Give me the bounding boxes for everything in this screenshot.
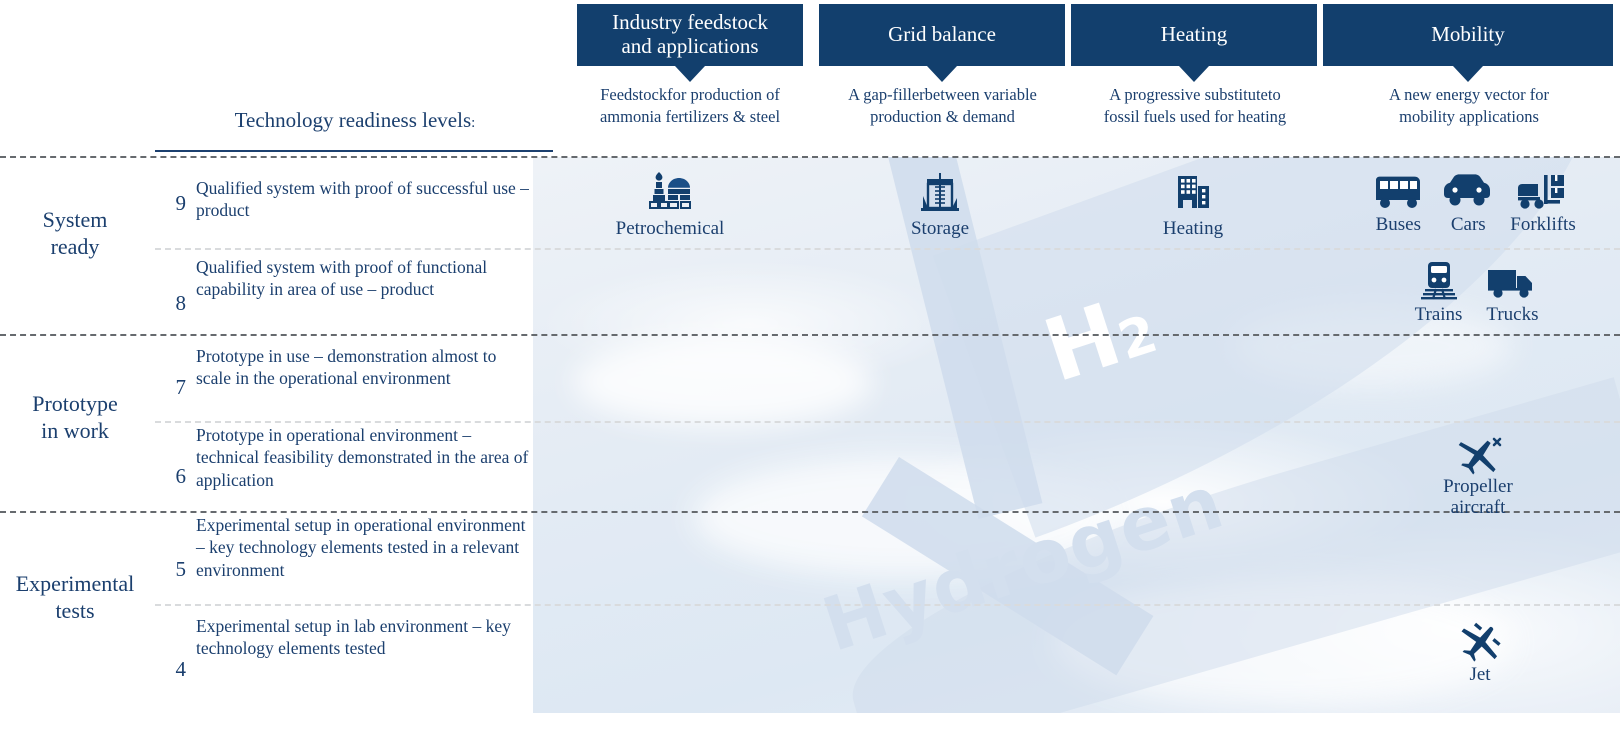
chevron-down-icon-heating <box>1179 66 1209 82</box>
divider-9-8 <box>155 248 1620 250</box>
group-label-prototype-in-work: Prototype in work <box>0 391 150 445</box>
group-label-system-ready: System ready <box>0 207 150 261</box>
divider-group-2-3 <box>0 511 1620 513</box>
level-number-8: 8 <box>160 291 186 316</box>
cell-label-trucks: Trucks <box>1484 305 1540 326</box>
column-subtitle-mobility: A new energy vector for mobility applica… <box>1330 84 1608 128</box>
column-header-heating[interactable]: Heating <box>1071 4 1317 66</box>
cell-label-heating: Heating <box>1098 219 1288 240</box>
bus-icon <box>1370 170 1426 214</box>
column-subtitle-heating: A progressive substituteto fossil fuels … <box>1066 84 1324 128</box>
level-text-5: Experimental setup in operational enviro… <box>196 514 531 581</box>
cell-item-forklifts[interactable]: Forklifts <box>1510 170 1575 236</box>
cell-label-cars: Cars <box>1440 215 1496 236</box>
truck-icon <box>1484 258 1540 304</box>
column-header-heating-line1: Heating <box>1161 23 1227 47</box>
cell-mobility-6[interactable]: Propeller aircraft <box>1378 436 1578 519</box>
level-number-9: 9 <box>160 191 186 216</box>
cell-item-trucks[interactable]: Trucks <box>1484 258 1540 326</box>
cell-label-trains: Trains <box>1415 305 1463 326</box>
cell-label-forklifts: Forklifts <box>1510 215 1575 236</box>
cell-label-buses: Buses <box>1370 215 1426 236</box>
chevron-down-icon-grid <box>927 66 957 82</box>
cell-label-petrochemical: Petrochemical <box>575 219 765 240</box>
divider-7-6 <box>155 421 1620 423</box>
column-header-mobility[interactable]: Mobility <box>1323 4 1613 66</box>
column-header-grid[interactable]: Grid balance <box>819 4 1065 66</box>
level-number-7: 7 <box>160 375 186 400</box>
train-icon <box>1416 258 1462 304</box>
divider-5-4 <box>155 604 1620 606</box>
storage-tank-icon <box>915 168 965 218</box>
column-header-industry[interactable]: Industry feedstock and applications <box>577 4 803 66</box>
level-number-4: 4 <box>160 657 186 682</box>
petrochemical-plant-icon <box>642 168 698 218</box>
column-subtitle-industry: Feedstockfor production of ammonia ferti… <box>560 84 820 128</box>
cell-item-buses[interactable]: Buses <box>1370 170 1426 236</box>
cell-label-propeller-aircraft: Propeller aircraft <box>1378 477 1578 519</box>
trl-title: Technology readiness levels: <box>155 108 555 133</box>
cell-industry-9[interactable]: Petrochemical <box>575 168 765 240</box>
cell-heating-9[interactable]: Heating <box>1098 168 1288 240</box>
level-text-9: Qualified system with proof of successfu… <box>196 177 531 222</box>
propeller-aircraft-icon <box>1452 436 1504 476</box>
chevron-down-icon-industry <box>675 66 705 82</box>
cell-mobility-9[interactable]: Buses Cars <box>1328 170 1618 236</box>
column-subtitle-grid: A gap-fillerbetween variable production … <box>815 84 1070 128</box>
divider-top <box>0 156 1620 158</box>
column-header-mobility-line1: Mobility <box>1431 23 1505 47</box>
level-number-5: 5 <box>160 557 186 582</box>
column-header-grid-line1: Grid balance <box>888 23 996 47</box>
level-text-8: Qualified system with proof of functiona… <box>196 256 531 301</box>
cell-label-jet: Jet <box>1380 665 1580 686</box>
cell-label-storage: Storage <box>845 219 1035 240</box>
cell-item-cars[interactable]: Cars <box>1440 170 1496 236</box>
buildings-icon <box>1169 168 1217 218</box>
level-text-6: Prototype in operational environment – t… <box>196 424 531 491</box>
chevron-down-icon-mobility <box>1453 66 1483 82</box>
trl-underline <box>155 150 553 152</box>
cell-item-trains[interactable]: Trains <box>1415 258 1463 326</box>
forklift-icon <box>1514 170 1572 214</box>
jet-aircraft-icon <box>1454 622 1506 664</box>
column-header-industry-line2: and applications <box>612 35 768 59</box>
cell-grid-9[interactable]: Storage <box>845 168 1035 240</box>
group-label-experimental-tests: Experimental tests <box>0 571 150 625</box>
level-text-7: Prototype in use – demonstration almost … <box>196 345 531 390</box>
level-text-4: Experimental setup in lab environment – … <box>196 615 531 660</box>
cell-mobility-4[interactable]: Jet <box>1380 622 1580 686</box>
column-header-industry-line1: Industry feedstock <box>612 11 768 35</box>
divider-group-1-2 <box>0 334 1620 336</box>
cell-mobility-8[interactable]: Trains Trucks <box>1345 258 1610 326</box>
car-icon <box>1440 170 1496 214</box>
level-number-6: 6 <box>160 464 186 489</box>
